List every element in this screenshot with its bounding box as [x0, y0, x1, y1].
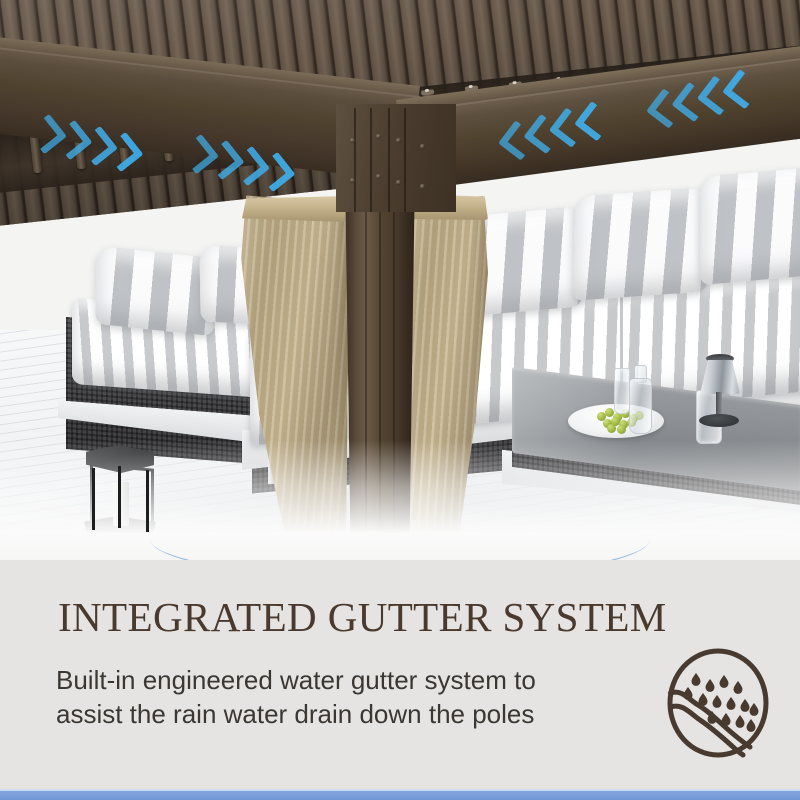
product-feature-image: INTEGRATED GUTTER SYSTEM Built-in engine… [0, 0, 800, 800]
rain-water-drain-icon [662, 645, 774, 761]
bolt [350, 138, 355, 143]
table-lamp-base [699, 414, 739, 427]
pergola-photo [0, 0, 800, 560]
olive [617, 425, 626, 434]
wine-glass [614, 368, 630, 414]
bolt [420, 144, 425, 149]
bolt [396, 180, 401, 185]
bolt [376, 174, 381, 179]
bolt [350, 178, 355, 183]
beam-seam [404, 108, 406, 212]
beam-corner-junction [336, 104, 456, 212]
feature-subtitle-line-1: Built-in engineered water gutter system … [56, 663, 646, 697]
bolt [420, 184, 425, 189]
lantern-post [118, 466, 121, 528]
beam-seam [388, 108, 390, 212]
water-carafe [629, 378, 652, 434]
feature-title: INTEGRATED GUTTER SYSTEM [58, 593, 667, 641]
lantern-post [92, 468, 95, 530]
feature-subtitle-line-2: assist the rain water drain down the pol… [56, 697, 646, 731]
pillow [700, 167, 800, 285]
lantern-post [146, 470, 149, 532]
beam-seam [370, 108, 372, 212]
beam-seam [354, 108, 356, 212]
bolt [376, 134, 381, 139]
curtain-left-header [242, 196, 346, 222]
olive [607, 424, 616, 433]
feature-subtitle: Built-in engineered water gutter system … [56, 663, 646, 731]
footer-accent-bar [0, 791, 800, 800]
bolt [396, 138, 401, 143]
pillow [573, 187, 709, 301]
pillow [95, 246, 214, 336]
